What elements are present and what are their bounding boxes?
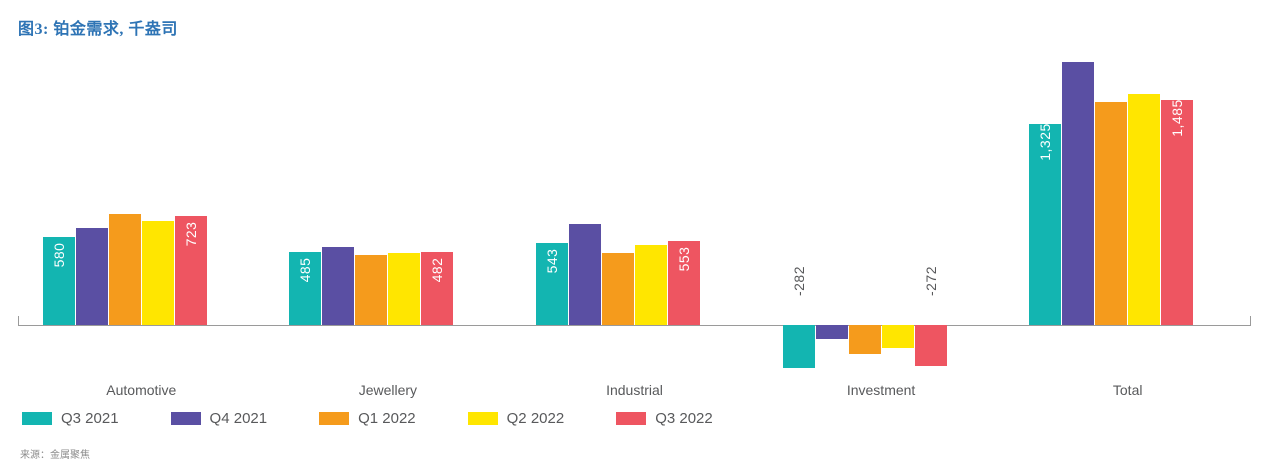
bar-automotive-q22022[interactable] — [142, 221, 174, 325]
bar-total-q22022[interactable] — [1128, 94, 1160, 325]
bar-total-q42021[interactable] — [1062, 62, 1094, 325]
bar-group-automotive: 580723Automotive — [18, 60, 265, 326]
bar-automotive-q42021[interactable] — [76, 228, 108, 325]
bar-total-q32022[interactable]: 1,485 — [1161, 100, 1193, 325]
bar-automotive-q12022[interactable] — [109, 214, 141, 325]
category-label-total: Total — [1004, 382, 1251, 398]
legend-label: Q3 2022 — [655, 410, 713, 427]
legend-swatch-icon — [171, 412, 201, 425]
bar-industrial-q32022[interactable]: 553 — [668, 241, 700, 325]
bar-investment-q32021[interactable]: -282 — [783, 325, 815, 368]
bar-value-label: 1,325 — [1037, 124, 1053, 162]
bar-industrial-q12022[interactable] — [602, 253, 634, 325]
source-note: 来源：金属聚焦 — [20, 446, 90, 461]
bars-container: 543553 — [511, 60, 758, 326]
bars-container: 580723 — [18, 60, 265, 326]
legend-swatch-icon — [468, 412, 498, 425]
bar-value-label: -282 — [791, 266, 807, 296]
bar-jewellery-q22022[interactable] — [388, 253, 420, 325]
legend-item-q12022[interactable]: Q1 2022 — [319, 410, 416, 427]
bar-industrial-q32021[interactable]: 543 — [536, 243, 568, 325]
bar-industrial-q22022[interactable] — [635, 245, 667, 325]
legend-label: Q1 2022 — [358, 410, 416, 427]
bar-jewellery-q42021[interactable] — [322, 247, 354, 325]
legend-swatch-icon — [616, 412, 646, 425]
bar-jewellery-q12022[interactable] — [355, 255, 387, 325]
bar-group-investment: -282-272Investment — [758, 60, 1005, 326]
category-label-automotive: Automotive — [18, 382, 265, 398]
bar-investment-q42021[interactable] — [816, 325, 848, 339]
legend-swatch-icon — [319, 412, 349, 425]
plot-area: 580723Automotive485482Jewellery543553Ind… — [18, 60, 1251, 326]
bar-automotive-q32022[interactable]: 723 — [175, 216, 207, 325]
legend-label: Q2 2022 — [507, 410, 565, 427]
legend-swatch-icon — [22, 412, 52, 425]
bar-group-jewellery: 485482Jewellery — [265, 60, 512, 326]
bar-value-label: 1,485 — [1169, 99, 1185, 137]
bar-jewellery-q32022[interactable]: 482 — [421, 252, 453, 325]
bar-jewellery-q32021[interactable]: 485 — [289, 252, 321, 325]
bar-value-label: 543 — [544, 248, 560, 273]
bar-group-industrial: 543553Industrial — [511, 60, 758, 326]
bars-container: 485482 — [265, 60, 512, 326]
bar-value-label: 580 — [51, 243, 67, 268]
legend-item-q32021[interactable]: Q3 2021 — [22, 410, 119, 427]
bar-automotive-q32021[interactable]: 580 — [43, 237, 75, 325]
bar-investment-q32022[interactable]: -272 — [915, 325, 947, 366]
legend-label: Q3 2021 — [61, 410, 119, 427]
chart-figure: 图3: 铂金需求, 千盎司 580723Automotive485482Jewe… — [0, 0, 1273, 475]
bar-value-label: 553 — [676, 247, 692, 272]
chart-title: 图3: 铂金需求, 千盎司 — [18, 15, 178, 39]
bar-total-q12022[interactable] — [1095, 102, 1127, 326]
bar-group-total: 1,3251,485Total — [1004, 60, 1251, 326]
category-label-industrial: Industrial — [511, 382, 758, 398]
legend-item-q32022[interactable]: Q3 2022 — [616, 410, 713, 427]
bar-investment-q22022[interactable] — [882, 325, 914, 348]
bar-investment-q12022[interactable] — [849, 325, 881, 354]
chart-legend: Q3 2021Q4 2021Q1 2022Q2 2022Q3 2022 — [22, 410, 765, 427]
category-label-investment: Investment — [758, 382, 1005, 398]
bars-container: 1,3251,485 — [1004, 60, 1251, 326]
legend-label: Q4 2021 — [210, 410, 268, 427]
bars-container: -282-272 — [758, 60, 1005, 326]
legend-item-q42021[interactable]: Q4 2021 — [171, 410, 268, 427]
bar-industrial-q42021[interactable] — [569, 224, 601, 325]
bar-value-label: 482 — [429, 258, 445, 283]
bar-total-q32021[interactable]: 1,325 — [1029, 124, 1061, 325]
category-label-jewellery: Jewellery — [265, 382, 512, 398]
bar-value-label: 485 — [297, 257, 313, 282]
legend-item-q22022[interactable]: Q2 2022 — [468, 410, 565, 427]
bar-value-label: -272 — [923, 266, 939, 296]
bar-value-label: 723 — [183, 221, 199, 246]
